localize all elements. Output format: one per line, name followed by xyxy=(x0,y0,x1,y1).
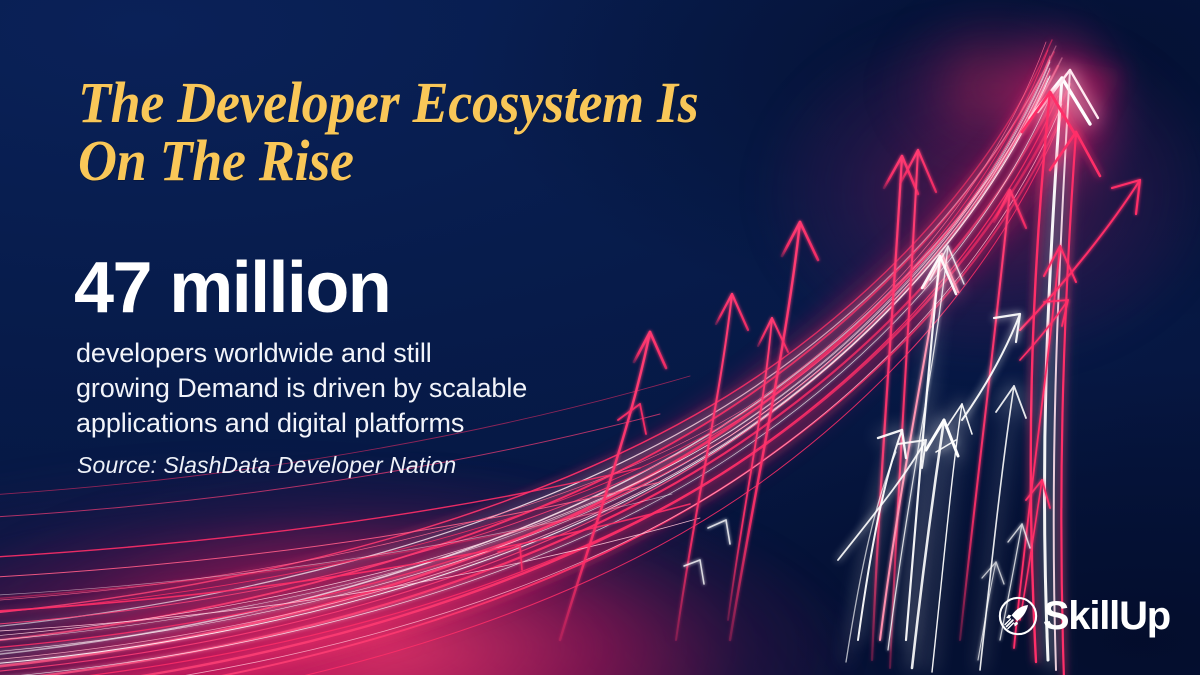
text-content: The Developer Ecosystem Is On The Rise 4… xyxy=(0,0,700,675)
headline-emphasis: Developer Ecosystem xyxy=(177,70,644,135)
brand-name: SkillUp xyxy=(1043,596,1170,636)
stat-value: 47 million xyxy=(74,252,390,324)
source-attribution: Source: SlashData Developer Nation xyxy=(77,452,456,479)
headline-lead: The xyxy=(78,70,177,135)
page-title: The Developer Ecosystem Is On The Rise xyxy=(78,74,822,190)
brand-logo: SkillUp xyxy=(997,595,1170,637)
poster-canvas: The Developer Ecosystem Is On The Rise 4… xyxy=(0,0,1200,675)
rocket-in-circle-icon xyxy=(997,595,1039,637)
stat-description: developers worldwide and still growing D… xyxy=(76,336,636,441)
